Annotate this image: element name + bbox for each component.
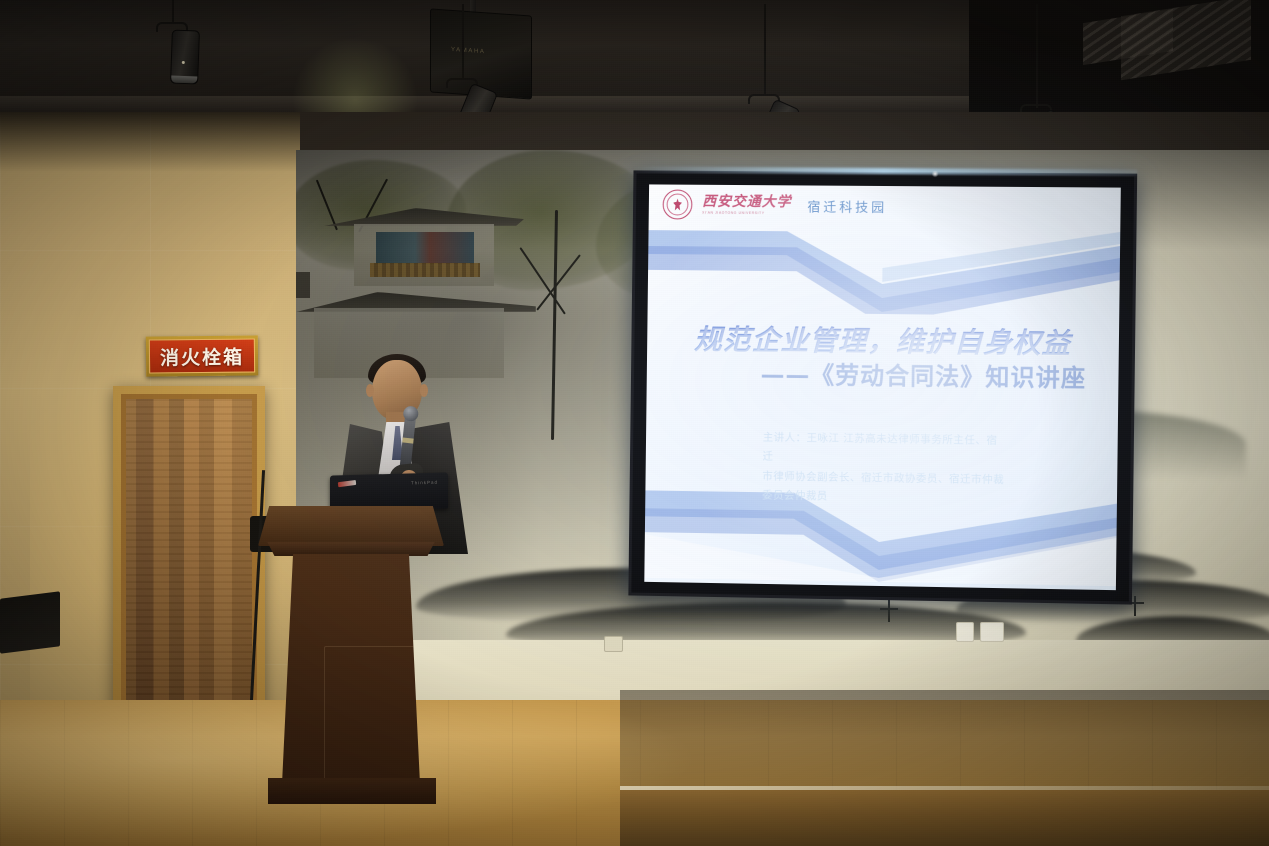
xjtu-name-en: XI'AN JIAOTONG UNIVERSITY xyxy=(702,211,791,216)
podium-top-surface xyxy=(258,506,444,546)
stage-platform-edge xyxy=(620,790,1269,846)
left-wall-shadow xyxy=(0,112,300,172)
wooden-door-frame xyxy=(113,386,265,748)
wooden-door[interactable] xyxy=(121,394,257,740)
lecture-hall-photo: YAMAHA xyxy=(0,0,1269,846)
podium-front-panel xyxy=(324,646,430,798)
light-switch-panel-2[interactable] xyxy=(980,622,1004,642)
speaker-brand-label: YAMAHA xyxy=(451,47,486,55)
person-ear-right xyxy=(420,384,428,397)
xjtu-seal-icon xyxy=(663,189,693,219)
fire-hydrant-sign-plate: 消火栓箱 xyxy=(149,338,255,373)
xjtu-name-cn: 西安交通大学 xyxy=(702,195,791,210)
laptop-logo-icon xyxy=(338,480,356,487)
projection-screen: 西安交通大学 XI'AN JIAOTONG UNIVERSITY 宿迁科技园 规… xyxy=(628,170,1137,604)
wall-outlet xyxy=(604,636,623,652)
microphone-band xyxy=(402,437,413,443)
light-switch-panel-1[interactable] xyxy=(956,622,974,642)
fire-hydrant-sign-text: 消火栓箱 xyxy=(160,342,244,370)
podium-base xyxy=(268,778,436,804)
podium-lip xyxy=(262,542,440,556)
speaker-podium xyxy=(258,506,444,806)
presentation-slide: 西安交通大学 XI'AN JIAOTONG UNIVERSITY 宿迁科技园 规… xyxy=(644,184,1121,590)
xjtu-wordmark: 西安交通大学 XI'AN JIAOTONG UNIVERSITY xyxy=(702,195,792,216)
slide-header: 西安交通大学 XI'AN JIAOTONG UNIVERSITY 宿迁科技园 xyxy=(649,184,1121,227)
slide-main-title: 规范企业管理，维护自身权益 xyxy=(669,324,1097,361)
presenter-line-1: 主讲人：王咏江 江苏高未达律师事务所主任、宿迁 xyxy=(762,428,1006,470)
presenter-line-3: 委员会仲裁员 xyxy=(762,486,1006,509)
slide-title-block: 规范企业管理，维护自身权益 ——《劳动合同法》知识讲座 xyxy=(647,324,1119,394)
microphone-head xyxy=(403,405,419,421)
slide-subtitle: ——《劳动合同法》知识讲座 xyxy=(668,360,1096,394)
door-light-falloff xyxy=(126,399,252,735)
wall-mounted-box xyxy=(0,591,60,653)
laptop-brand-label: ThinkPad xyxy=(411,480,438,486)
slide-presenter-credits: 主讲人：王咏江 江苏高未达律师事务所主任、宿迁 市律师协会副会长、宿迁市政协委员… xyxy=(645,427,1118,512)
slide-top-chevron-band xyxy=(648,224,1121,316)
projector-hotspot xyxy=(932,170,939,177)
podium-body xyxy=(282,554,420,784)
fire-hydrant-box-sign: 消火栓箱 xyxy=(146,335,258,376)
person-ear-left xyxy=(366,384,374,397)
science-park-name: 宿迁科技园 xyxy=(807,196,887,216)
xjtu-emblem-mark xyxy=(673,199,682,211)
